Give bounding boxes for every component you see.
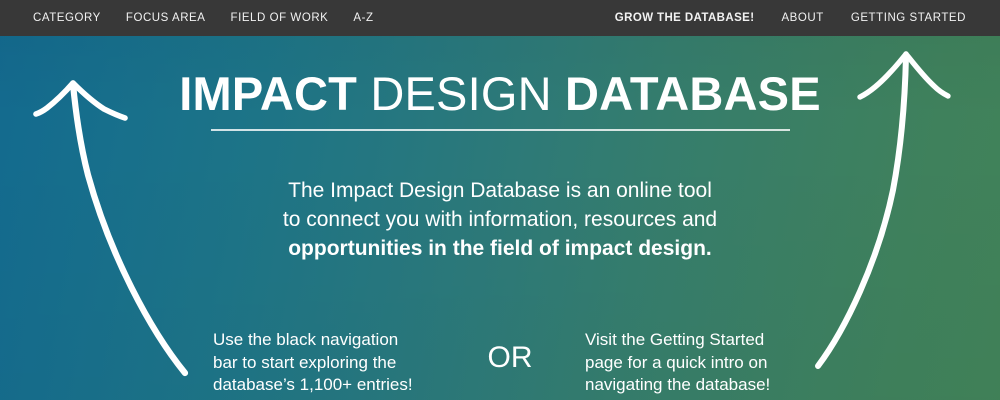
- bottom-left-line-1: Use the black navigation: [213, 329, 453, 352]
- page-title-part-design: DESIGN: [370, 67, 551, 120]
- page-title-part-database: DATABASE: [565, 67, 821, 120]
- nav-item-about[interactable]: ABOUT: [781, 0, 823, 36]
- hero-title-block: IMPACT DESIGN DATABASE: [0, 66, 1000, 131]
- page-title-spacer-2: [552, 67, 565, 120]
- nav-item-focus-area[interactable]: FOCUS AREA: [126, 0, 206, 36]
- impact-design-database-hero-page: CATEGORY FOCUS AREA FIELD OF WORK A-Z GR…: [0, 0, 1000, 400]
- bottom-or-divider: OR: [455, 341, 565, 375]
- hero-bottom-row: Use the black navigation bar to start ex…: [0, 329, 1000, 400]
- bottom-instruction-left: Use the black navigation bar to start ex…: [213, 329, 453, 397]
- page-title-part-impact: IMPACT: [179, 67, 357, 120]
- nav-item-category[interactable]: CATEGORY: [33, 0, 101, 36]
- nav-item-grow-the-database[interactable]: GROW THE DATABASE!: [615, 0, 755, 36]
- page-title-spacer-1: [357, 67, 370, 120]
- page-title: IMPACT DESIGN DATABASE: [0, 66, 1000, 122]
- bottom-left-line-2: bar to start exploring the: [213, 352, 453, 375]
- nav-item-field-of-work[interactable]: FIELD OF WORK: [231, 0, 329, 36]
- bottom-right-line-2: page for a quick intro on: [585, 352, 835, 375]
- nav-item-a-z[interactable]: A-Z: [353, 0, 373, 36]
- intro-line-2: to connect you with information, resourc…: [0, 205, 1000, 234]
- intro-line-3-emphasis: opportunities in the field of impact des…: [0, 234, 1000, 263]
- nav-secondary-links: GROW THE DATABASE! ABOUT GETTING STARTED: [615, 0, 966, 36]
- top-navigation-bar: CATEGORY FOCUS AREA FIELD OF WORK A-Z GR…: [0, 0, 1000, 36]
- title-underline-divider: [211, 129, 790, 131]
- intro-line-1: The Impact Design Database is an online …: [0, 176, 1000, 205]
- nav-item-getting-started[interactable]: GETTING STARTED: [851, 0, 966, 36]
- hero-intro-paragraph: The Impact Design Database is an online …: [0, 176, 1000, 263]
- bottom-right-line-1: Visit the Getting Started: [585, 329, 835, 352]
- bottom-left-line-3: database’s 1,100+ entries!: [213, 374, 453, 397]
- bottom-right-line-3: navigating the database!: [585, 374, 835, 397]
- nav-primary-links: CATEGORY FOCUS AREA FIELD OF WORK A-Z: [33, 0, 399, 36]
- bottom-instruction-right: Visit the Getting Started page for a qui…: [585, 329, 835, 397]
